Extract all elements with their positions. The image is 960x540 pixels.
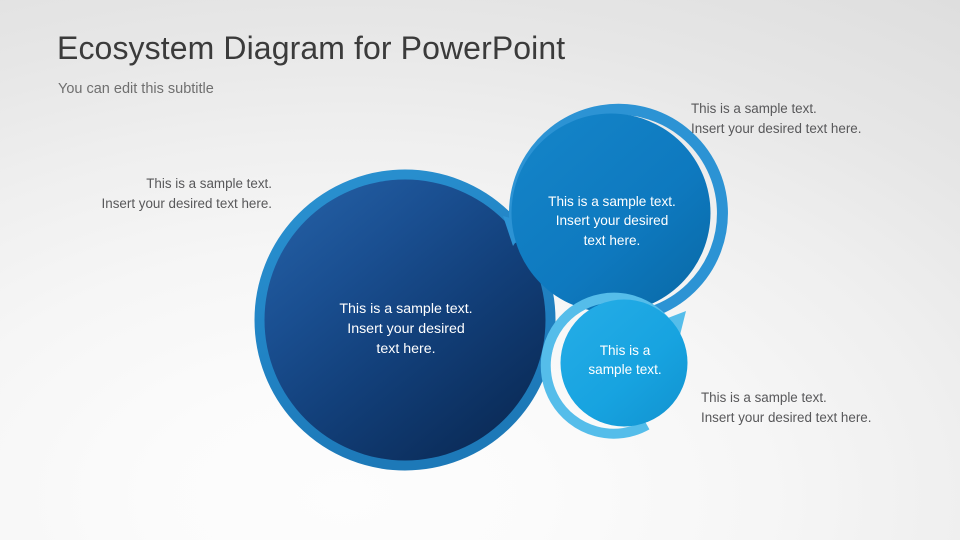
callout-top-right[interactable]: This is a sample text. Insert your desir… [691,99,906,139]
ecosystem-diagram [0,0,960,540]
medium-circle-fill[interactable] [512,114,711,313]
callout-left[interactable]: This is a sample text. Insert your desir… [72,174,272,214]
small-circle-fill[interactable] [561,300,688,427]
large-circle-fill[interactable] [265,180,546,461]
callout-bottom-right[interactable]: This is a sample text. Insert your desir… [701,388,916,428]
slide-canvas: Ecosystem Diagram for PowerPoint You can… [0,0,960,540]
small-circle-group[interactable] [546,298,688,434]
